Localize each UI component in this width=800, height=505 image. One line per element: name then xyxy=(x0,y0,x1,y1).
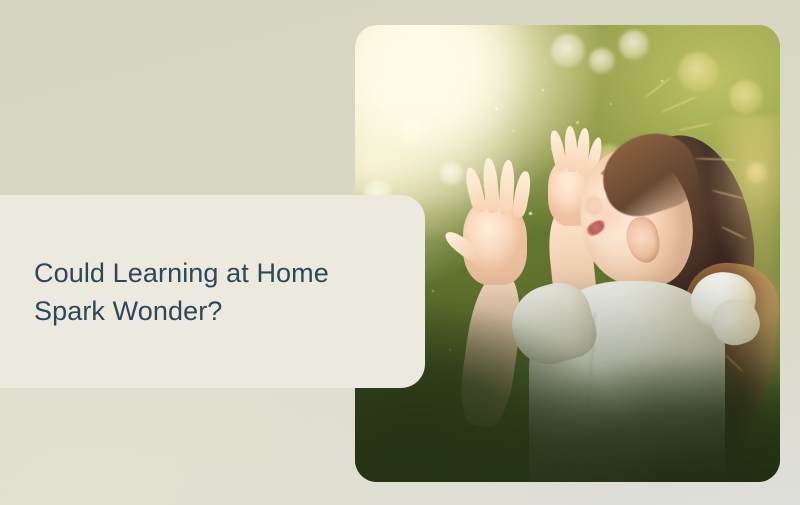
headline-card: Could Learning at Home Spark Wonder? xyxy=(0,195,425,388)
promo-banner: Could Learning at Home Spark Wonder? xyxy=(0,0,800,505)
hair-wisp xyxy=(661,96,698,113)
hair-wisp xyxy=(644,77,672,99)
finger xyxy=(511,170,532,217)
hair-wisp xyxy=(678,123,713,132)
page-title: Could Learning at Home Spark Wonder? xyxy=(0,254,329,330)
